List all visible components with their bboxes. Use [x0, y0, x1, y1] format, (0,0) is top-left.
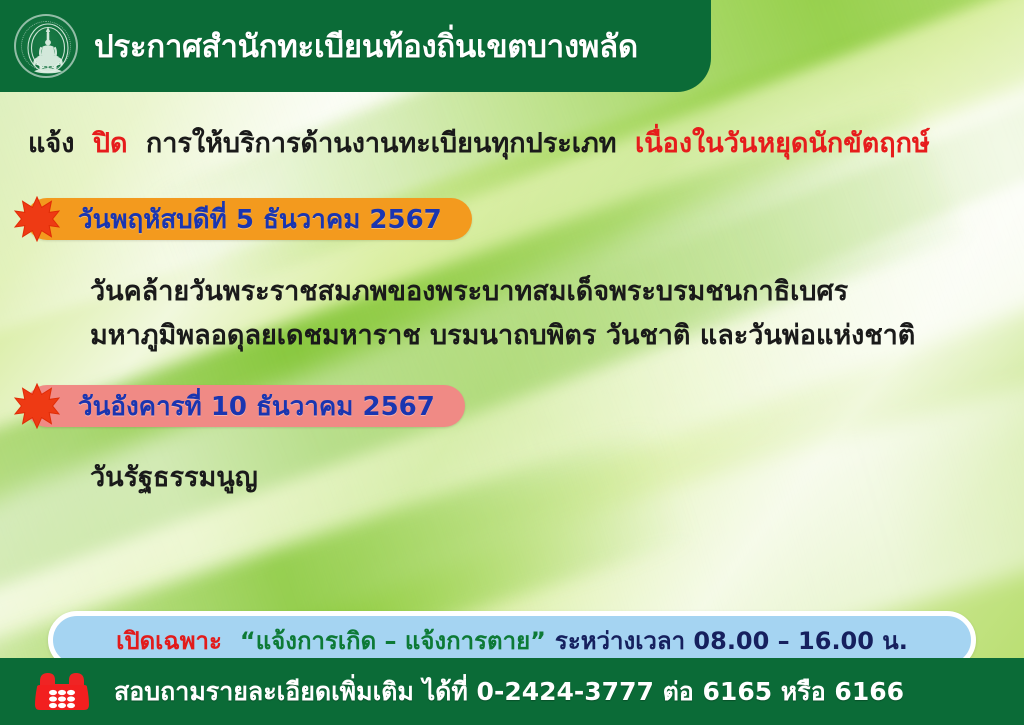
notice-closed-word: ปิด	[93, 128, 128, 159]
holiday-entry: วันอังคารที่ 10 ธันวาคม 2567	[14, 383, 465, 429]
holiday-date-badge: วันอังคารที่ 10 ธันวาคม 2567	[26, 385, 465, 427]
poster-body: แจ้ง ปิด การให้บริการด้านงานทะเบียนทุกปร…	[0, 92, 1024, 654]
announcement-poster: ประกาศสำนักทะเบียนท้องถิ่นเขตบางพลัด แจ้…	[0, 0, 1024, 725]
page-title: ประกาศสำนักทะเบียนท้องถิ่นเขตบางพลัด	[94, 21, 638, 71]
notice-part-3: การให้บริการด้านงานทะเบียนทุกประเภท	[146, 128, 617, 159]
telephone-icon	[32, 668, 92, 716]
hours-services: “แจ้งการเกิด – แจ้งการตาย”	[240, 621, 546, 660]
hours-time: ระหว่างเวลา 08.00 – 16.00 น.	[555, 621, 908, 660]
header-bar: ประกาศสำนักทะเบียนท้องถิ่นเขตบางพลัด	[0, 0, 711, 92]
holiday-detail-line: มหาภูมิพลอดุลยเดชมหาราช บรมนาถบพิตร วันช…	[90, 313, 915, 356]
holiday-date-label: วันพฤหัสบดีที่ 5 ธันวาคม 2567	[78, 199, 442, 240]
footer-bar: สอบถามรายละเอียดเพิ่มเติม ได้ที่ 0-2424-…	[0, 658, 1024, 725]
notice-reason: เนื่องในวันหยุดนักขัตฤกษ์	[635, 128, 930, 159]
holiday-entry: วันพฤหัสบดีที่ 5 ธันวาคม 2567	[14, 196, 472, 242]
contact-info-text: สอบถามรายละเอียดเพิ่มเติม ได้ที่ 0-2424-…	[114, 672, 904, 712]
holiday-date-badge: วันพฤหัสบดีที่ 5 ธันวาคม 2567	[26, 198, 472, 240]
bangkok-metropolitan-seal-icon	[14, 14, 78, 78]
holiday-detail-line: วันรัฐธรรมนูญ	[90, 455, 258, 498]
holiday-detail-line: วันคล้ายวันพระราชสมภพของพระบาทสมเด็จพระบ…	[90, 269, 848, 312]
holiday-date-label: วันอังคารที่ 10 ธันวาคม 2567	[78, 386, 435, 427]
starburst-icon	[14, 383, 60, 429]
hours-prefix: เปิดเฉพาะ	[116, 621, 222, 660]
starburst-icon	[14, 196, 60, 242]
closure-notice-line: แจ้ง ปิด การให้บริการด้านงานทะเบียนทุกปร…	[28, 121, 1018, 164]
notice-part-1: แจ้ง	[28, 128, 74, 159]
